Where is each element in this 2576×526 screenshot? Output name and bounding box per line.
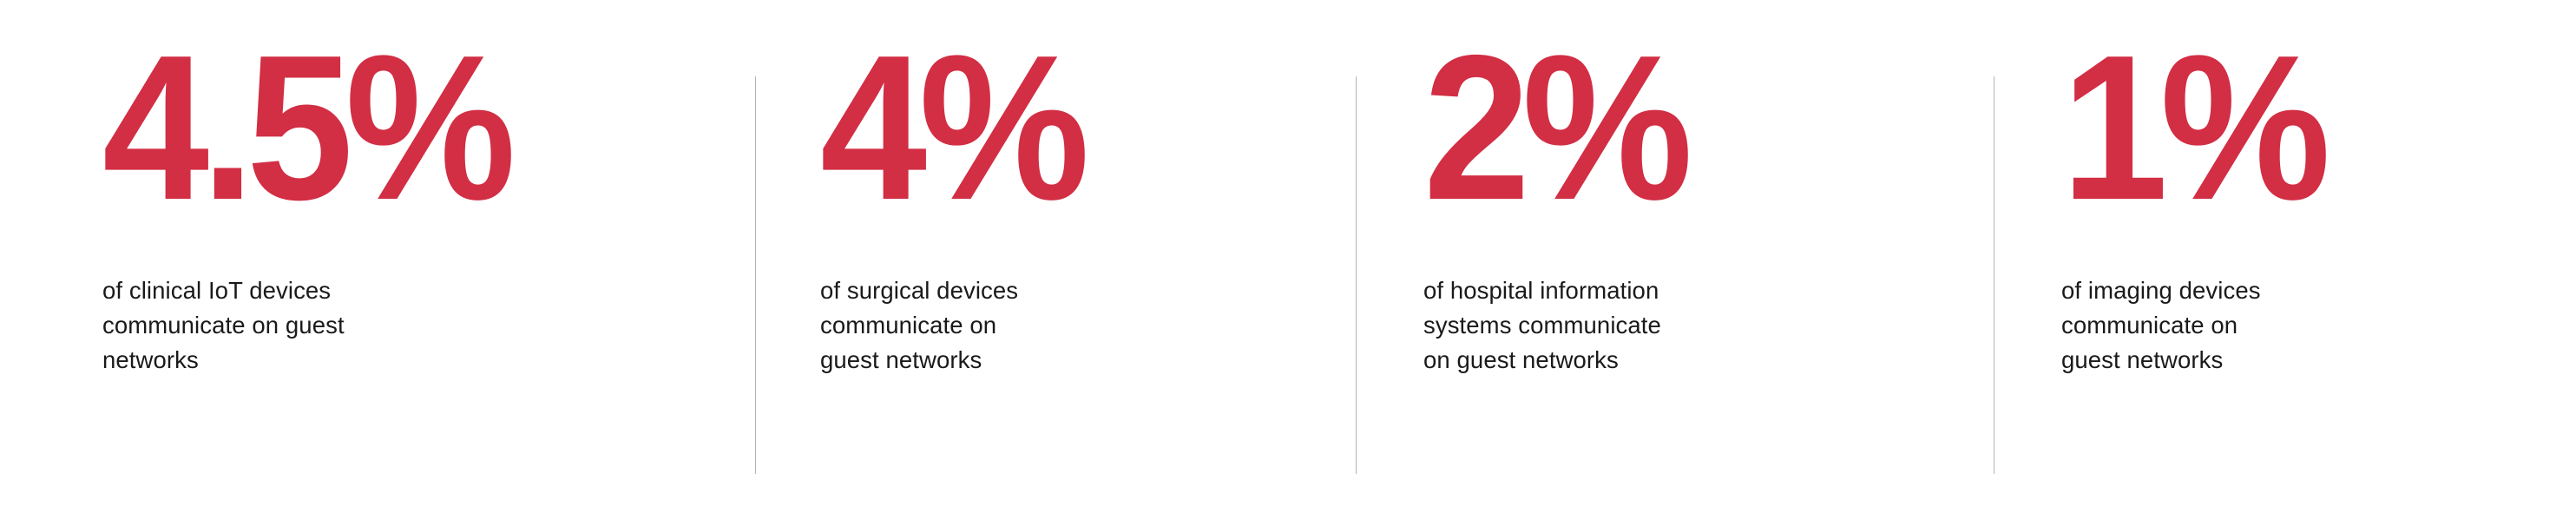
statistics-band: 4.5% of clinical IoT devices communicate… — [0, 0, 2576, 526]
stat-panel: 4% of surgical devices communicate on gu… — [755, 0, 1356, 526]
stat-value: 2% — [1423, 16, 1685, 241]
panel-divider — [1994, 76, 1994, 474]
stat-caption: of imaging devices communicate on guest … — [2061, 273, 2285, 378]
stat-value: 4% — [820, 16, 1081, 241]
stat-caption: of hospital information systems communic… — [1423, 273, 1684, 378]
stat-value: 4.5% — [102, 16, 508, 241]
panel-divider — [1356, 76, 1357, 474]
stat-panel: 1% of imaging devices communicate on gue… — [1994, 0, 2576, 526]
stat-caption: of surgical devices communicate on guest… — [820, 273, 1053, 378]
stat-panel: 2% of hospital information systems commu… — [1356, 0, 1994, 526]
stat-value: 1% — [2061, 16, 2323, 241]
panel-divider — [755, 76, 756, 474]
stat-caption: of clinical IoT devices communicate on g… — [102, 273, 389, 378]
stat-panel: 4.5% of clinical IoT devices communicate… — [0, 0, 755, 526]
